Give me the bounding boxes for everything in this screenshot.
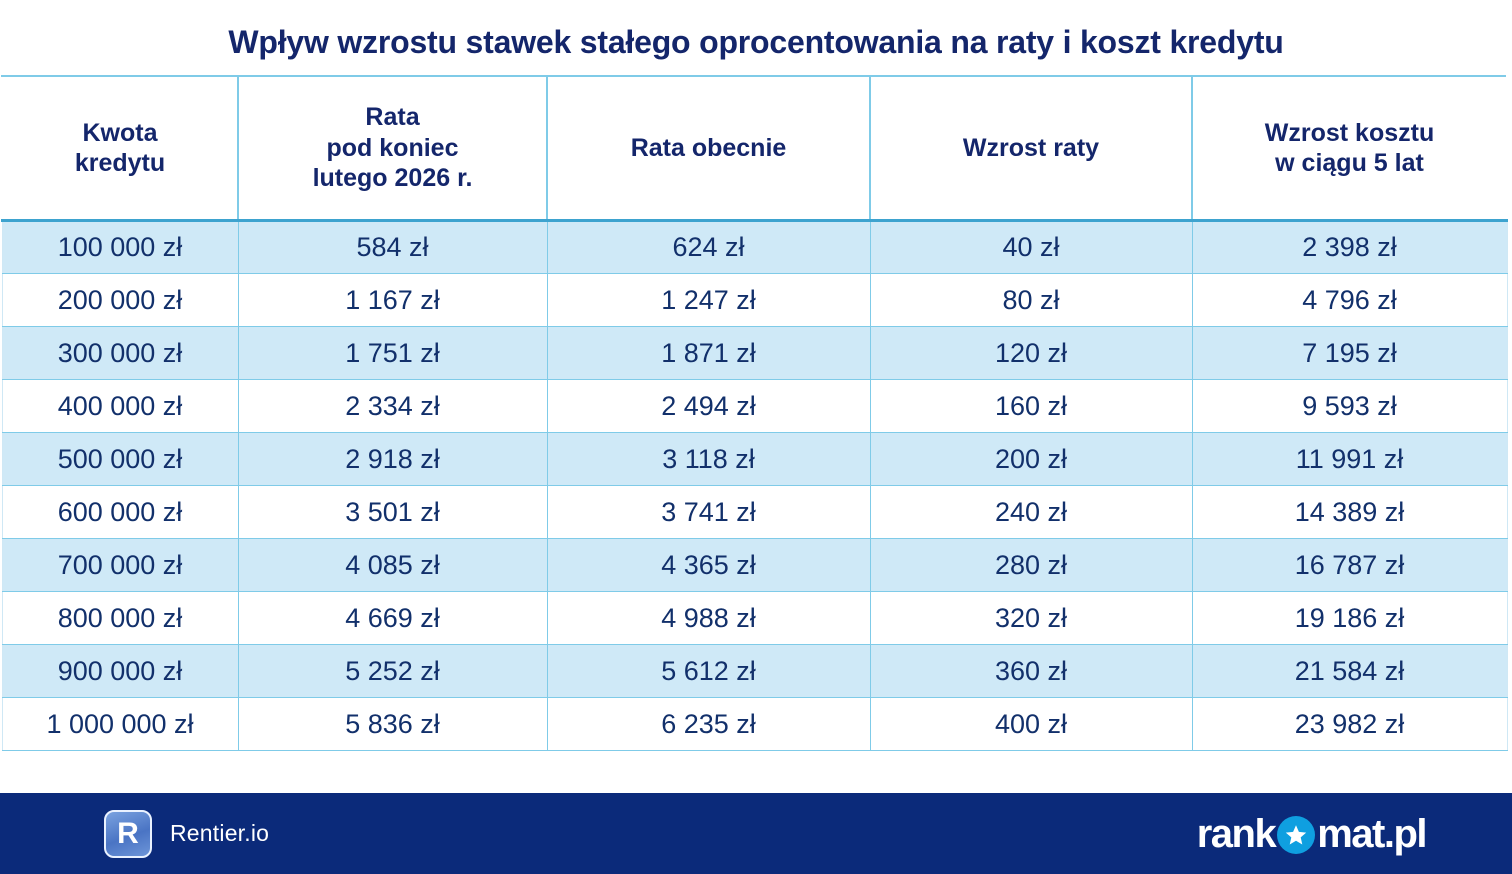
table-cell-r9-c3: 400 zł (870, 698, 1192, 751)
table-cell-r5-c3: 240 zł (870, 486, 1192, 539)
table-cell-r1-c0: 200 000 zł (2, 274, 238, 327)
table-cell-r3-c0: 400 000 zł (2, 380, 238, 433)
table-cell-r2-c4: 7 195 zł (1192, 327, 1507, 380)
table-row: 100 000 zł584 zł624 zł40 zł2 398 zł (2, 221, 1507, 274)
table-row: 900 000 zł5 252 zł5 612 zł360 zł21 584 z… (2, 645, 1507, 698)
rentier-brand-name: Rentier.io (170, 820, 269, 847)
table-body: 100 000 zł584 zł624 zł40 zł2 398 zł200 0… (2, 221, 1507, 751)
rentier-logo-letter: R (117, 819, 139, 849)
table-cell-r5-c2: 3 741 zł (547, 486, 870, 539)
table-header-row: KwotakredytuRatapod konieclutego 2026 r.… (2, 77, 1507, 221)
column-header-line: kredytu (75, 149, 165, 177)
table-cell-r4-c0: 500 000 zł (2, 433, 238, 486)
table-row: 800 000 zł4 669 zł4 988 zł320 zł19 186 z… (2, 592, 1507, 645)
table-row: 500 000 zł2 918 zł3 118 zł200 zł11 991 z… (2, 433, 1507, 486)
table-cell-r2-c0: 300 000 zł (2, 327, 238, 380)
table-cell-r2-c2: 1 871 zł (547, 327, 870, 380)
table-cell-r6-c3: 280 zł (870, 539, 1192, 592)
table-cell-r9-c0: 1 000 000 zł (2, 698, 238, 751)
column-header-1: Ratapod konieclutego 2026 r. (238, 77, 547, 221)
table-cell-r0-c3: 40 zł (870, 221, 1192, 274)
rankomat-brand[interactable]: rank mat.pl (1197, 814, 1426, 854)
rentier-brand[interactable]: R Rentier.io (104, 810, 269, 858)
rentier-logo-icon: R (104, 810, 152, 858)
table-cell-r0-c4: 2 398 zł (1192, 221, 1507, 274)
table-cell-r1-c4: 4 796 zł (1192, 274, 1507, 327)
table-row: 700 000 zł4 085 zł4 365 zł280 zł16 787 z… (2, 539, 1507, 592)
table-cell-r1-c1: 1 167 zł (238, 274, 547, 327)
table-cell-r4-c3: 200 zł (870, 433, 1192, 486)
table-row: 600 000 zł3 501 zł3 741 zł240 zł14 389 z… (2, 486, 1507, 539)
table-cell-r4-c2: 3 118 zł (547, 433, 870, 486)
column-header-line: Rata (365, 103, 419, 131)
rankomat-text-part2: mat.pl (1317, 814, 1426, 854)
column-header-line: Kwota (83, 119, 158, 147)
page-title: Wpływ wzrostu stawek stałego oprocentowa… (0, 0, 1512, 75)
star-in-circle-icon (1277, 816, 1315, 854)
table-cell-r1-c2: 1 247 zł (547, 274, 870, 327)
column-header-line: Wzrost raty (963, 134, 1099, 162)
table-cell-r8-c4: 21 584 zł (1192, 645, 1507, 698)
column-header-line: pod koniec (327, 134, 459, 162)
footer-bar: R Rentier.io rank mat.pl (0, 793, 1512, 874)
table-cell-r1-c3: 80 zł (870, 274, 1192, 327)
column-header-line: lutego 2026 r. (313, 164, 473, 192)
table-cell-r7-c4: 19 186 zł (1192, 592, 1507, 645)
table-cell-r0-c1: 584 zł (238, 221, 547, 274)
table-cell-r6-c1: 4 085 zł (238, 539, 547, 592)
column-header-line: w ciągu 5 lat (1275, 149, 1424, 177)
rankomat-text-part1: rank (1197, 814, 1276, 854)
table-cell-r9-c4: 23 982 zł (1192, 698, 1507, 751)
table-cell-r9-c1: 5 836 zł (238, 698, 547, 751)
table-cell-r3-c4: 9 593 zł (1192, 380, 1507, 433)
table-cell-r6-c4: 16 787 zł (1192, 539, 1507, 592)
table-cell-r8-c1: 5 252 zł (238, 645, 547, 698)
column-header-3: Wzrost raty (870, 77, 1192, 221)
table-cell-r0-c0: 100 000 zł (2, 221, 238, 274)
table-cell-r3-c2: 2 494 zł (547, 380, 870, 433)
loan-rates-table: KwotakredytuRatapod konieclutego 2026 r.… (1, 77, 1508, 752)
table-cell-r4-c4: 11 991 zł (1192, 433, 1507, 486)
column-header-line: Rata obecnie (631, 134, 787, 162)
table-cell-r7-c2: 4 988 zł (547, 592, 870, 645)
table-cell-r7-c1: 4 669 zł (238, 592, 547, 645)
table-cell-r4-c1: 2 918 zł (238, 433, 547, 486)
table-row: 1 000 000 zł5 836 zł6 235 zł400 zł23 982… (2, 698, 1507, 751)
table-cell-r7-c3: 320 zł (870, 592, 1192, 645)
table-cell-r5-c0: 600 000 zł (2, 486, 238, 539)
table-cell-r2-c1: 1 751 zł (238, 327, 547, 380)
table-container: KwotakredytuRatapod konieclutego 2026 r.… (1, 75, 1506, 752)
table-cell-r7-c0: 800 000 zł (2, 592, 238, 645)
table-cell-r0-c2: 624 zł (547, 221, 870, 274)
table-cell-r2-c3: 120 zł (870, 327, 1192, 380)
column-header-line: Wzrost kosztu (1265, 119, 1434, 147)
table-cell-r9-c2: 6 235 zł (547, 698, 870, 751)
table-cell-r5-c4: 14 389 zł (1192, 486, 1507, 539)
table-row: 400 000 zł2 334 zł2 494 zł160 zł9 593 zł (2, 380, 1507, 433)
column-header-4: Wzrost kosztuw ciągu 5 lat (1192, 77, 1507, 221)
table-cell-r8-c2: 5 612 zł (547, 645, 870, 698)
column-header-2: Rata obecnie (547, 77, 870, 221)
table-row: 200 000 zł1 167 zł1 247 zł80 zł4 796 zł (2, 274, 1507, 327)
table-cell-r6-c2: 4 365 zł (547, 539, 870, 592)
table-header: KwotakredytuRatapod konieclutego 2026 r.… (2, 77, 1507, 221)
table-cell-r8-c0: 900 000 zł (2, 645, 238, 698)
table-cell-r3-c1: 2 334 zł (238, 380, 547, 433)
table-cell-r3-c3: 160 zł (870, 380, 1192, 433)
table-cell-r5-c1: 3 501 zł (238, 486, 547, 539)
table-row: 300 000 zł1 751 zł1 871 zł120 zł7 195 zł (2, 327, 1507, 380)
column-header-0: Kwotakredytu (2, 77, 238, 221)
table-cell-r6-c0: 700 000 zł (2, 539, 238, 592)
table-cell-r8-c3: 360 zł (870, 645, 1192, 698)
